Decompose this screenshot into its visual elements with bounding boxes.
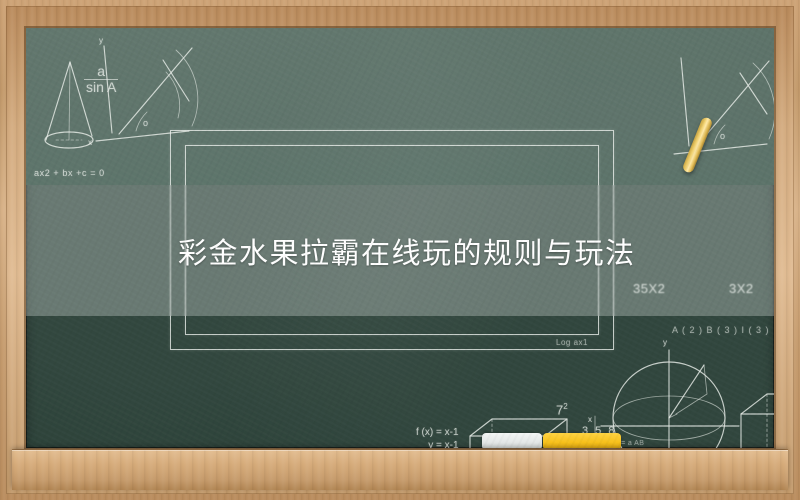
white-eraser-icon [482, 433, 542, 448]
chalkboard-surface: asin A y x o ax2 + bx +c = 0 f (x) = x-1… [26, 28, 774, 448]
matrix-row-note: A ( 2 ) B ( 3 ) I ( 3 ) [672, 325, 770, 335]
seven-squared-note: 72 [556, 402, 568, 417]
banner-image: asin A y x o ax2 + bx +c = 0 f (x) = x-1… [0, 0, 800, 500]
cube-drawing-right [741, 394, 774, 448]
sphere-x-axis-label: x [588, 415, 592, 424]
sphere-y-axis-label: y [663, 338, 667, 347]
page-title: 彩金水果拉霸在线玩的规则与玩法 [26, 185, 774, 316]
sphere-axes-drawing [601, 350, 739, 448]
function-derivation-note: f (x) = x-1 y = x-1 x = y+1 [416, 426, 459, 448]
yellow-chalk-icon [543, 433, 621, 448]
chalk-tray [12, 450, 788, 490]
